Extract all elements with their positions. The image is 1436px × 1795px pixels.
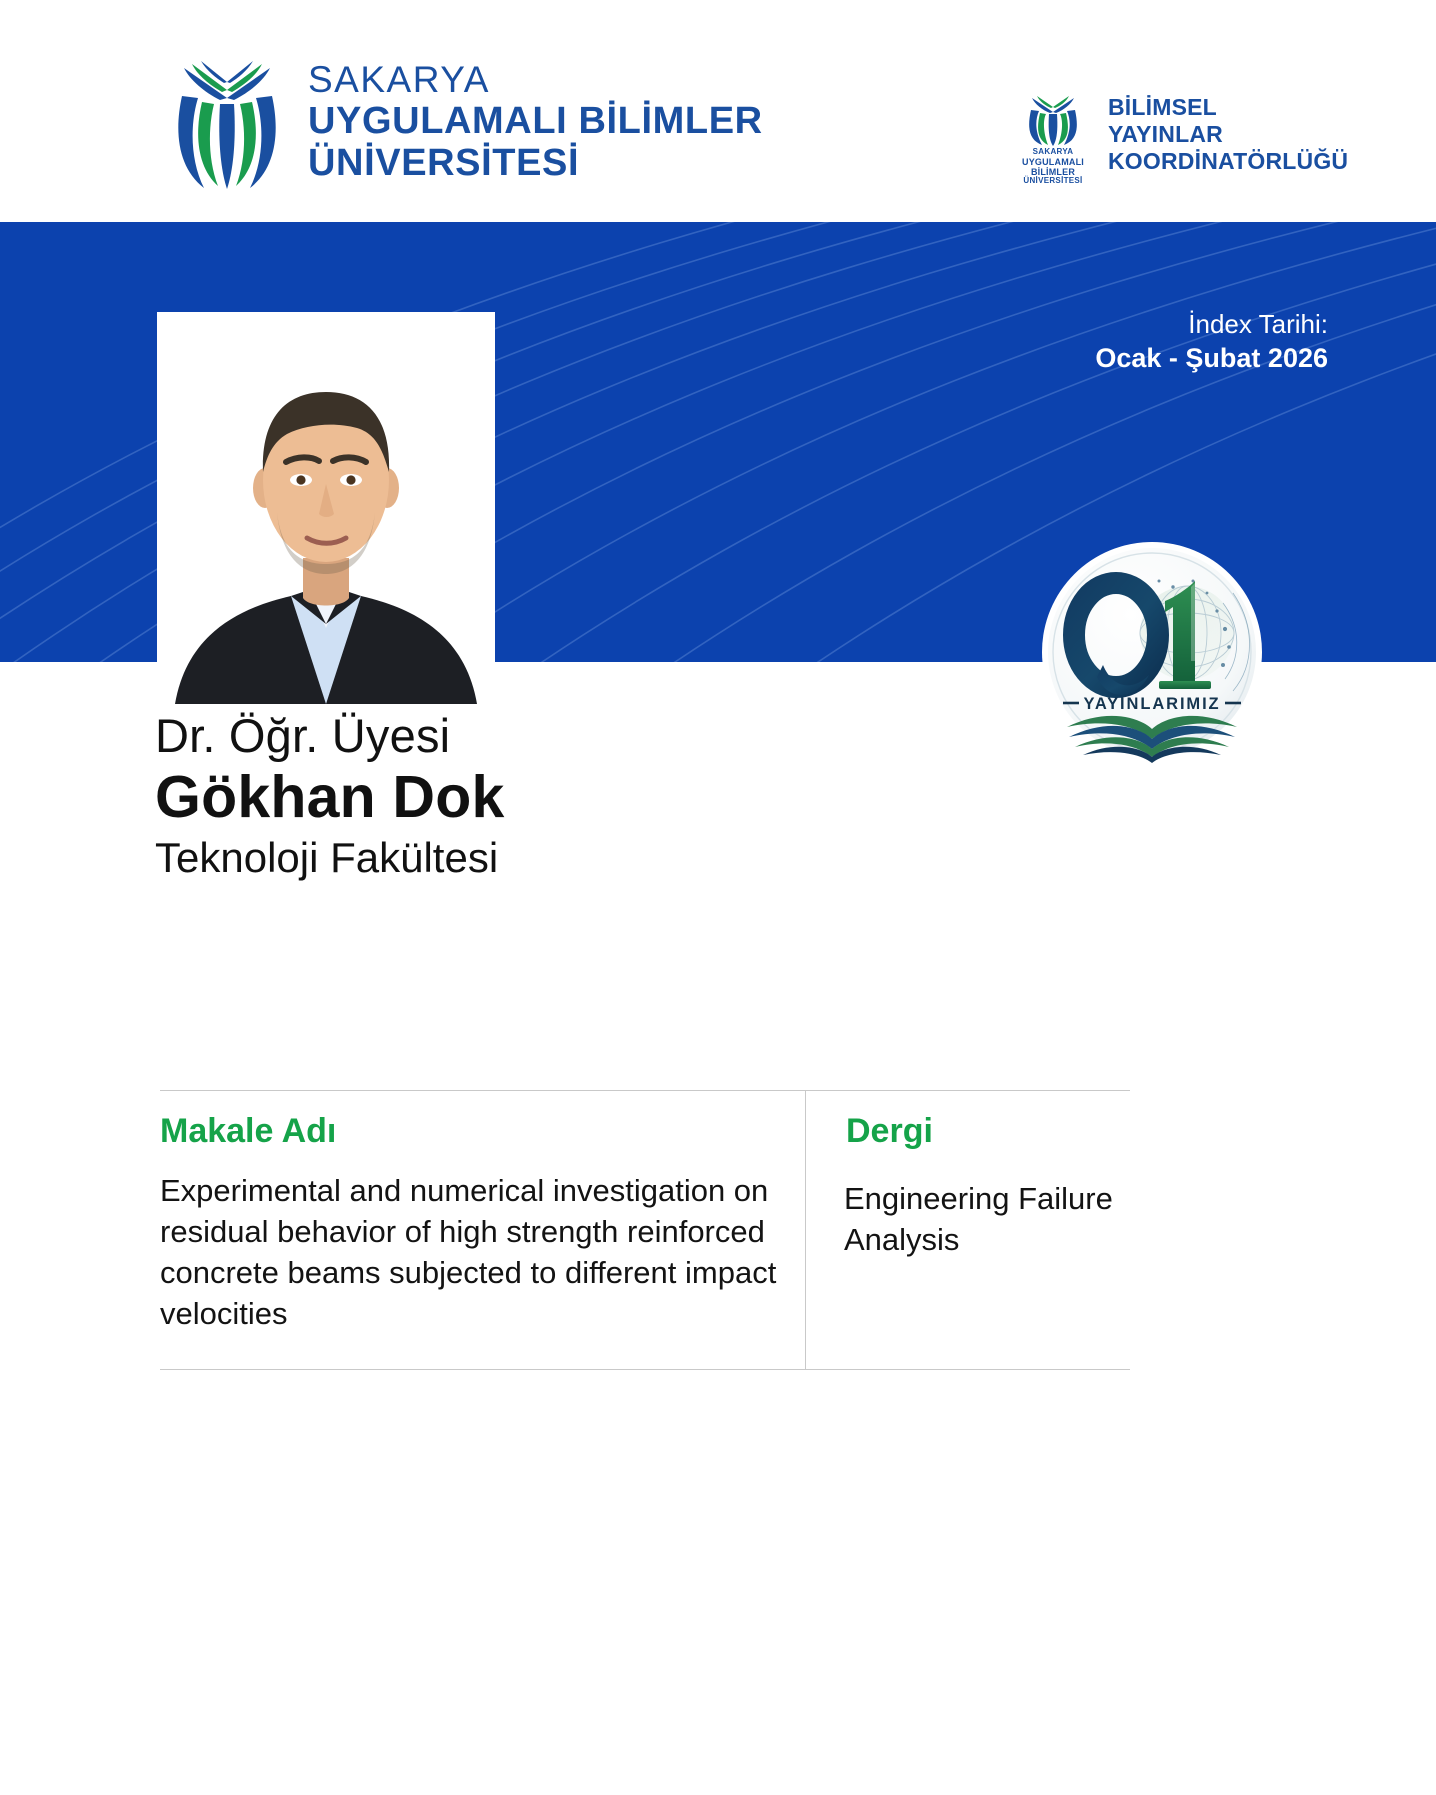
index-date-label: İndex Tarihi:: [1095, 308, 1328, 341]
journal-heading: Dergi: [840, 1111, 1130, 1152]
small-mark-line3: ÜNİVERSİTESİ: [1010, 177, 1096, 186]
person-faculty: Teknoloji Fakültesi: [155, 834, 505, 882]
sakarya-tulip-small-icon: [1025, 92, 1081, 146]
article-heading: Makale Adı: [160, 1111, 781, 1152]
index-date-value: Ocak - Şubat 2026: [1095, 341, 1328, 376]
journal-name-value: Engineering Failure Analysis: [840, 1170, 1130, 1260]
index-date-block: İndex Tarihi: Ocak - Şubat 2026: [1095, 308, 1328, 375]
scientific-publications-logo: SAKARYA UYGULAMALI BİLİMLER ÜNİVERSİTESİ…: [1010, 92, 1348, 186]
university-logo-line1: SAKARYA: [308, 61, 763, 98]
small-mark-line2: UYGULAMALI BİLİMLER: [1010, 157, 1096, 177]
academic-title: Dr. Öğr. Üyesi: [155, 710, 505, 763]
university-logo-wordmark: SAKARYA UYGULAMALI BİLİMLER ÜNİVERSİTESİ: [308, 61, 763, 182]
badge-caption-text: YAYINLARIMIZ: [1083, 695, 1220, 713]
poster-page: SAKARYA UYGULAMALI BİLİMLER ÜNİVERSİTESİ: [0, 0, 1436, 1795]
sakarya-tulip-small-mark: SAKARYA UYGULAMALI BİLİMLER ÜNİVERSİTESİ: [1010, 92, 1096, 186]
article-column: Makale Adı Experimental and numerical in…: [160, 1090, 805, 1370]
university-logo: SAKARYA UYGULAMALI BİLİMLER ÜNİVERSİTESİ: [168, 52, 763, 190]
q1-quartile-badge-icon: YAYINLARIMIZ: [1041, 541, 1263, 763]
coordination-line3: KOORDİNATÖRLÜĞÜ: [1108, 148, 1348, 175]
sakarya-tulip-logo-icon: [168, 52, 286, 190]
university-logo-line3: ÜNİVERSİTESİ: [308, 144, 763, 182]
person-name-block: Dr. Öğr. Üyesi Gökhan Dok Teknoloji Fakü…: [155, 710, 505, 881]
portrait-photo: [157, 312, 495, 704]
person-full-name: Gökhan Dok: [155, 765, 505, 830]
publication-info-table: Makale Adı Experimental and numerical in…: [160, 1090, 1250, 1370]
sakarya-tulip-small-subtext: SAKARYA UYGULAMALI BİLİMLER ÜNİVERSİTESİ: [1010, 148, 1096, 186]
coordination-line1: BİLİMSEL: [1108, 94, 1348, 121]
coordination-line2: YAYINLAR: [1108, 121, 1348, 148]
journal-column: Dergi Engineering Failure Analysis: [805, 1090, 1130, 1370]
small-mark-line1: SAKARYA: [1010, 148, 1096, 157]
article-title-value: Experimental and numerical investigation…: [160, 1170, 781, 1335]
coordination-wordmark: BİLİMSEL YAYINLAR KOORDİNATÖRLÜĞÜ: [1108, 92, 1348, 175]
university-logo-line2: UYGULAMALI BİLİMLER: [308, 102, 763, 140]
header-bar: SAKARYA UYGULAMALI BİLİMLER ÜNİVERSİTESİ: [0, 0, 1436, 222]
